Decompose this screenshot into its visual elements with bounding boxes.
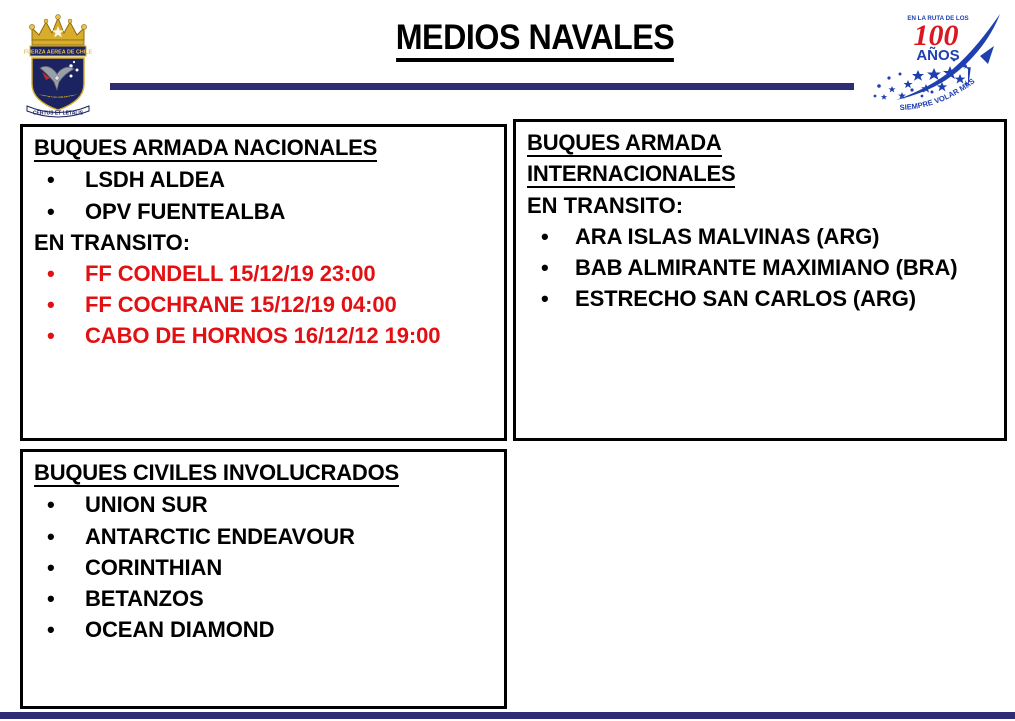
slide-canvas: FUERZA AEREA DE CHILE FE EN MIS ALAS [0,0,1015,721]
panel-title-line-1: BUQUES ARMADA [527,128,994,157]
slide-header: FUERZA AEREA DE CHILE FE EN MIS ALAS [0,0,1015,120]
international-transit-subheading: EN TRANSITO: [527,191,994,220]
page-title: MEDIOS NAVALES [153,18,917,62]
panel-buques-armada-internacionales: BUQUES ARMADA INTERNACIONALES EN TRANSIT… [513,119,1007,441]
list-item-label: OPV FUENTEALBA [85,199,285,224]
crest-banner-text: FUERZA AEREA DE CHILE [24,50,93,56]
panel-body: BUQUES CIVILES INVOLUCRADOS UNION SUR AN… [23,452,504,645]
list-item: OPV FUENTEALBA [34,196,494,227]
list-item-label: ARA ISLAS MALVINAS (ARG) [575,224,879,249]
list-item-label: CORINTHIAN [85,555,222,580]
list-item-label: ESTRECHO SAN CARLOS (ARG) [575,286,916,311]
international-transit-list: ARA ISLAS MALVINAS (ARG) BAB ALMIRANTE M… [527,221,994,314]
list-item-label: FF COCHRANE 15/12/19 04:00 [85,292,397,317]
list-item: FF CONDELL 15/12/19 23:00 [34,258,494,289]
list-item-label: BETANZOS [85,586,204,611]
panel-title-text: BUQUES ARMADA NACIONALES [34,135,377,162]
list-item: ANTARCTIC ENDEAVOUR [34,521,494,552]
list-item-label: CABO DE HORNOS 16/12/12 19:00 [85,323,440,348]
footer-navy-bar [0,712,1015,719]
panel-body: BUQUES ARMADA NACIONALES LSDH ALDEA OPV … [23,127,504,351]
civil-ship-list: UNION SUR ANTARCTIC ENDEAVOUR CORINTHIAN… [34,489,494,644]
list-item-label: LSDH ALDEA [85,167,225,192]
header-divider-rule [110,83,854,90]
national-transit-subheading: EN TRANSITO: [34,228,494,257]
panel-title-text-line-2: INTERNACIONALES [527,161,735,188]
panel-buques-civiles-involucrados: BUQUES CIVILES INVOLUCRADOS UNION SUR AN… [20,449,507,709]
list-item-label: BAB ALMIRANTE MAXIMIANO (BRA) [575,255,957,280]
list-item: FF COCHRANE 15/12/19 04:00 [34,289,494,320]
national-transit-list: FF CONDELL 15/12/19 23:00 FF COCHRANE 15… [34,258,494,351]
panel-body: BUQUES ARMADA INTERNACIONALES EN TRANSIT… [516,122,1004,314]
list-item: LSDH ALDEA [34,164,494,195]
list-item: ARA ISLAS MALVINAS (ARG) [527,221,994,252]
list-item-label: FF CONDELL 15/12/19 23:00 [85,261,376,286]
list-item: ESTRECHO SAN CARLOS (ARG) [527,283,994,314]
list-item-label: ANTARCTIC ENDEAVOUR [85,524,355,549]
anniversary-years-text: AÑOS [916,46,959,64]
100-anos-anniversary-logo-icon: EN LA RUTA DE LOS 100 AÑOS [862,6,1008,114]
list-item-label: UNION SUR [85,492,208,517]
list-item: BETANZOS [34,583,494,614]
panel-title: BUQUES CIVILES INVOLUCRADOS [34,458,494,487]
crest-motto-text: CERTUS ET LETALIS [33,110,84,116]
fuerza-aerea-de-chile-crest-icon: FUERZA AEREA DE CHILE FE EN MIS ALAS [18,6,98,118]
page-title-text: MEDIOS NAVALES [396,20,675,62]
national-ship-list: LSDH ALDEA OPV FUENTEALBA [34,164,494,226]
panel-title-text: BUQUES CIVILES INVOLUCRADOS [34,460,399,487]
panel-buques-armada-nacionales: BUQUES ARMADA NACIONALES LSDH ALDEA OPV … [20,124,507,441]
list-item: CABO DE HORNOS 16/12/12 19:00 [34,320,494,351]
panel-title: BUQUES ARMADA NACIONALES [34,133,494,162]
crest-inner-motto-text: FE EN MIS ALAS [44,96,72,100]
list-item-label: OCEAN DIAMOND [85,617,274,642]
list-item: BAB ALMIRANTE MAXIMIANO (BRA) [527,252,994,283]
list-item: UNION SUR [34,489,494,520]
list-item: CORINTHIAN [34,552,494,583]
panel-title-line-2: INTERNACIONALES [527,159,994,188]
list-item: OCEAN DIAMOND [34,614,494,645]
panel-title-text-line-1: BUQUES ARMADA [527,130,722,157]
